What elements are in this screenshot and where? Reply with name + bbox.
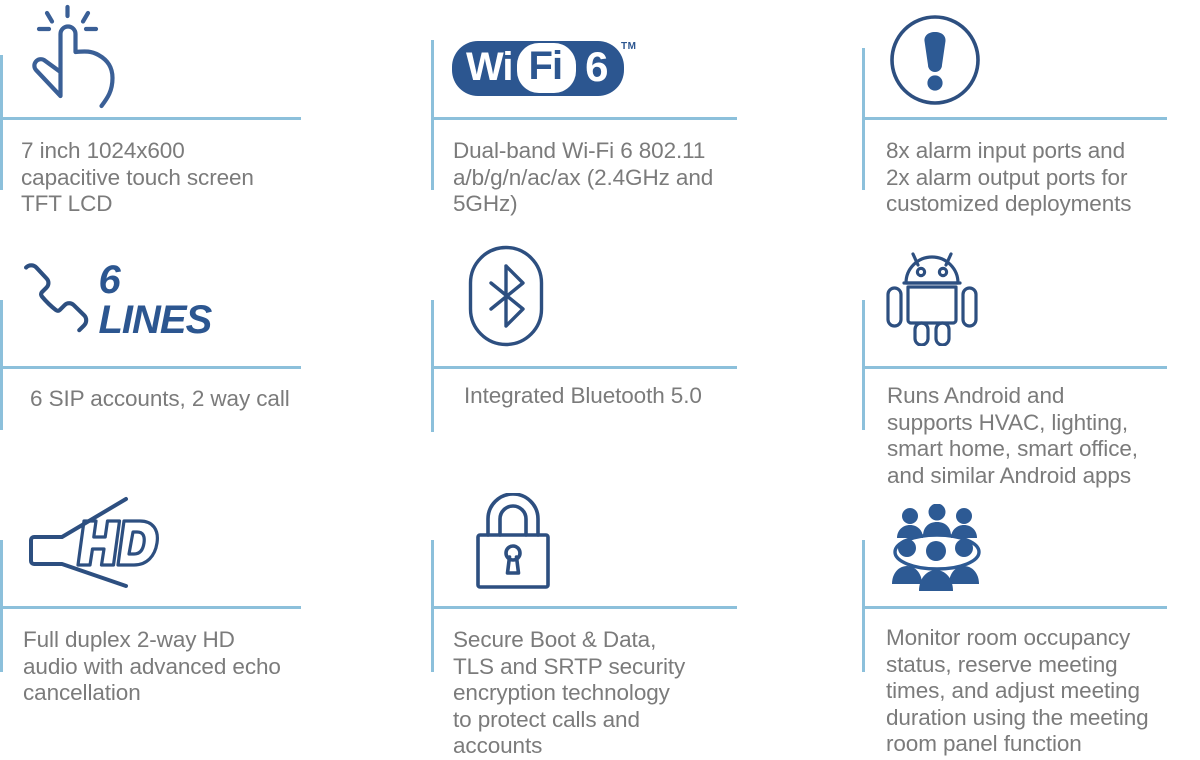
exclamation-circle-icon	[888, 13, 982, 107]
accent-rule-vertical	[0, 300, 3, 430]
speaker-hd-icon	[28, 493, 164, 591]
icon-zone: 6 LINES	[20, 255, 223, 345]
divider-rule-horizontal	[862, 606, 1167, 609]
phone-handset-icon	[20, 257, 92, 343]
bluetooth-icon	[468, 245, 544, 347]
wifi-6-wi-text: Wi	[466, 47, 513, 87]
feature-grid: 7 inch 1024x600 capacitive touch screen …	[0, 0, 1200, 756]
icon-zone	[888, 503, 988, 595]
divider-rule-horizontal	[0, 117, 301, 120]
wifi-6-six-text: 6	[585, 46, 608, 88]
feature-caption: Dual-band Wi-Fi 6 802.11 a/b/g/n/ac/ax (…	[453, 138, 753, 218]
feature-caption: 7 inch 1024x600 capacitive touch screen …	[21, 138, 311, 218]
wifi-6-fi-text: Fi	[517, 43, 577, 93]
icon-zone	[884, 248, 984, 348]
android-robot-icon	[884, 250, 980, 346]
accent-rule-vertical	[862, 300, 865, 430]
icon-zone	[18, 4, 138, 110]
feature-caption: 8x alarm input ports and 2x alarm output…	[886, 138, 1186, 218]
divider-rule-horizontal	[431, 606, 737, 609]
icon-zone: Wi Fi 6 TM	[452, 28, 624, 108]
icon-zone	[470, 492, 560, 592]
feature-caption: Runs Android and supports HVAC, lighting…	[887, 383, 1187, 489]
feature-caption: 6 SIP accounts, 2 way call	[30, 386, 330, 413]
accent-rule-vertical	[0, 55, 3, 190]
six-lines-badge-text: 6 LINES	[98, 260, 222, 340]
padlock-icon	[470, 493, 556, 591]
feature-caption: Full duplex 2-way HD audio with advanced…	[23, 627, 323, 707]
accent-rule-vertical	[431, 40, 434, 190]
touch-gesture-icon	[18, 4, 126, 110]
divider-rule-horizontal	[431, 117, 737, 120]
divider-rule-horizontal	[0, 366, 301, 369]
divider-rule-horizontal	[862, 117, 1167, 120]
divider-rule-horizontal	[431, 366, 737, 369]
feature-caption: Monitor room occupancy status, reserve m…	[886, 625, 1196, 758]
icon-zone	[888, 10, 988, 110]
divider-rule-horizontal	[862, 366, 1167, 369]
divider-rule-horizontal	[0, 606, 301, 609]
icon-zone	[28, 492, 168, 592]
feature-caption: Integrated Bluetooth 5.0	[464, 383, 764, 410]
trademark-mark: TM	[621, 41, 636, 52]
wifi-6-pill: Wi Fi 6	[452, 41, 624, 96]
feature-caption: Secure Boot & Data, TLS and SRTP securit…	[453, 627, 753, 760]
wifi-6-logo: Wi Fi 6 TM	[452, 41, 624, 96]
meeting-room-people-icon	[888, 504, 986, 594]
icon-zone	[468, 243, 548, 348]
